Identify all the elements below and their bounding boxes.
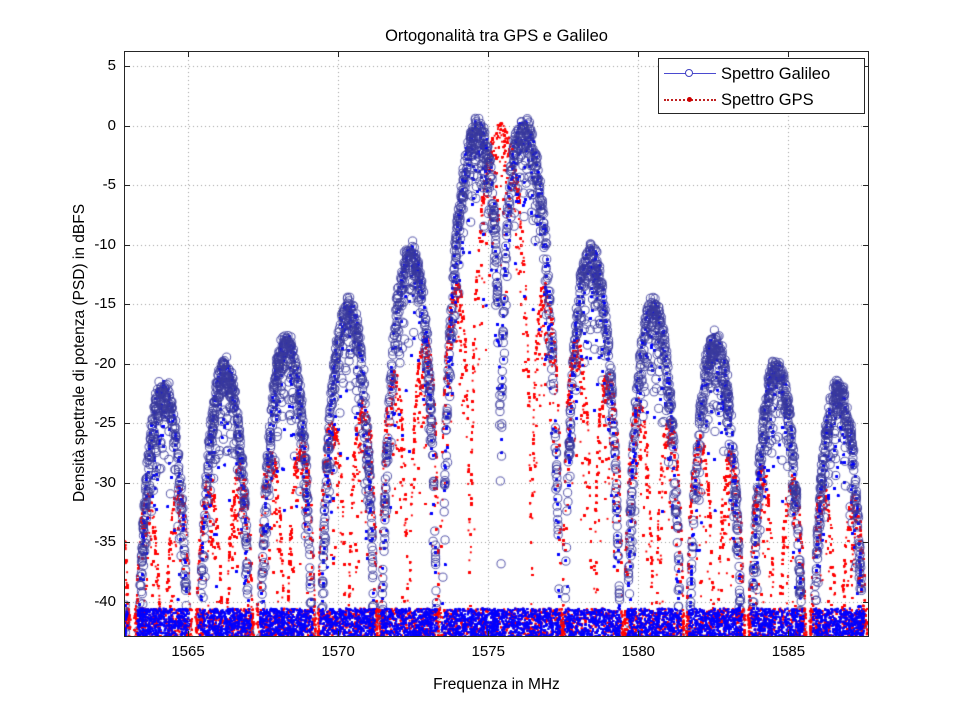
x-tick-mark [338, 631, 339, 637]
y-tick-mark [124, 304, 130, 305]
x-tick-mark [638, 51, 639, 57]
dot-marker-icon [687, 97, 692, 102]
legend-sample-galileo [659, 64, 721, 84]
legend-sample-gps [659, 90, 721, 110]
y-tick-mark [863, 304, 869, 305]
legend-label-gps: Spettro GPS [721, 91, 814, 109]
y-tick-mark [863, 423, 869, 424]
y-tick-mark [863, 185, 869, 186]
x-tick-label: 1575 [448, 644, 528, 659]
y-tick-mark [124, 602, 130, 603]
figure-canvas: Ortogonalità tra GPS e Galileo 50-5-10-1… [0, 0, 961, 721]
x-tick-label: 1585 [748, 644, 828, 659]
y-tick-mark [124, 185, 130, 186]
chart-title: Ortogonalità tra GPS e Galileo [124, 26, 869, 46]
x-tick-mark [338, 51, 339, 57]
circle-marker-icon [685, 69, 693, 77]
y-tick-mark [124, 483, 130, 484]
x-tick-mark [188, 631, 189, 637]
x-tick-label: 1570 [298, 644, 378, 659]
y-tick-mark [124, 542, 130, 543]
plot-area [124, 51, 869, 637]
x-tick-mark [788, 51, 789, 57]
x-tick-mark [638, 631, 639, 637]
legend-entry-gps: Spettro GPS [659, 87, 864, 113]
legend-box: Spettro Galileo Spettro GPS [658, 58, 865, 114]
y-tick-mark [863, 602, 869, 603]
x-tick-mark [188, 51, 189, 57]
y-tick-mark [863, 483, 869, 484]
x-tick-label: 1565 [148, 644, 228, 659]
y-tick-mark [863, 542, 869, 543]
y-tick-mark [863, 126, 869, 127]
y-tick-mark [124, 364, 130, 365]
y-tick-mark [863, 245, 869, 246]
y-tick-mark [124, 126, 130, 127]
legend-entry-galileo: Spettro Galileo [659, 61, 864, 87]
x-tick-mark [488, 631, 489, 637]
y-tick-mark [124, 66, 130, 67]
x-tick-mark [488, 51, 489, 57]
legend-label-galileo: Spettro Galileo [721, 65, 830, 83]
x-tick-mark [788, 631, 789, 637]
y-axis-label: Densità spettrale di potenza (PSD) in dB… [71, 60, 89, 646]
x-tick-label: 1580 [598, 644, 678, 659]
grid-overlay-canvas [125, 52, 868, 636]
y-tick-mark [124, 245, 130, 246]
x-axis-label: Frequenza in MHz [124, 676, 869, 694]
y-tick-mark [124, 423, 130, 424]
y-tick-mark [863, 364, 869, 365]
